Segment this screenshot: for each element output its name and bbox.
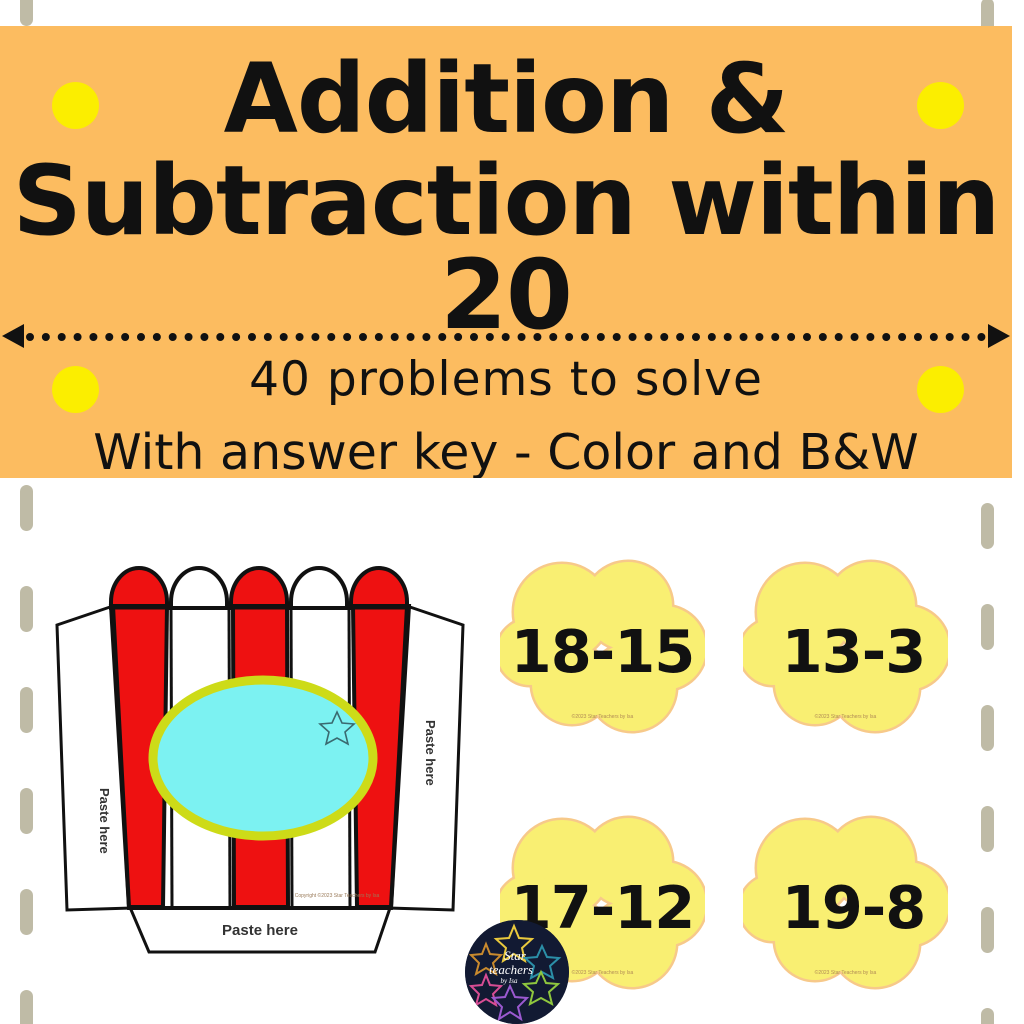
box-arch-3 [231,568,287,608]
popcorn-piece[interactable]: 18-15 ©2023 Star Teachers by Isa [500,556,705,741]
rail-dash [20,889,33,935]
rail-dash [20,788,33,834]
arrow-left-icon [2,324,24,348]
rail-dash [981,503,994,549]
popcorn-piece[interactable]: 19-8 ©2023 Star Teachers by Isa [743,812,948,997]
box-copyright-label: Copyright ©2023 Star Teachers by Isa [295,892,380,899]
paste-here-left-label: Paste here [97,788,112,854]
popcorn-box-template: Paste here Paste here Paste here Copyrig… [45,560,475,980]
rail-dash [981,907,994,953]
dotted-line [26,333,986,341]
arrow-right-icon [988,324,1010,348]
popcorn-copyright: ©2023 Star Teachers by Isa [743,714,948,720]
rail-dash [20,485,33,531]
oval-label [153,680,373,836]
rail-dash [20,687,33,733]
dotted-double-arrow-divider [0,322,1012,350]
brand-logo[interactable]: Star teachers by Isa [465,920,569,1024]
subtitle-problem-count: 40 problems to solve [0,352,1012,407]
rail-dash [20,990,33,1024]
title-line-1: Addition & [0,52,1012,146]
box-arch-4 [291,568,347,608]
title-line-2: Subtraction within 20 [0,154,1012,342]
rail-dash [20,0,33,26]
box-arch-5 [351,568,407,608]
worksheet-cover-page: Addition & Subtraction within 20 40 prob… [0,0,1024,1024]
box-arch-2 [171,568,227,608]
subtitle-answer-key: With answer key - Color and B&W [0,424,1012,478]
paste-here-right-label: Paste here [423,720,438,786]
popcorn-piece[interactable]: 13-3 ©2023 Star Teachers by Isa [743,556,948,741]
popcorn-problem-text: 18-15 [500,617,705,686]
logo-line-1: Star [504,948,527,963]
paste-here-bottom-label: Paste here [222,922,298,939]
rail-dash [981,806,994,852]
rail-dash [981,604,994,650]
popcorn-copyright: ©2023 Star Teachers by Isa [500,714,705,720]
rail-dash [981,705,994,751]
box-arch-1 [111,568,167,608]
rail-dash [981,1008,994,1024]
page-title: Addition & Subtraction within 20 [0,26,1012,342]
popcorn-problem-text: 13-3 [751,617,956,686]
popcorn-copyright: ©2023 Star Teachers by Isa [743,970,948,976]
rail-dash [20,586,33,632]
header-band: Addition & Subtraction within 20 40 prob… [0,26,1012,478]
logo-line-3: by Isa [501,977,518,985]
logo-line-2: teachers [489,962,533,977]
popcorn-problem-text: 19-8 [751,873,956,942]
